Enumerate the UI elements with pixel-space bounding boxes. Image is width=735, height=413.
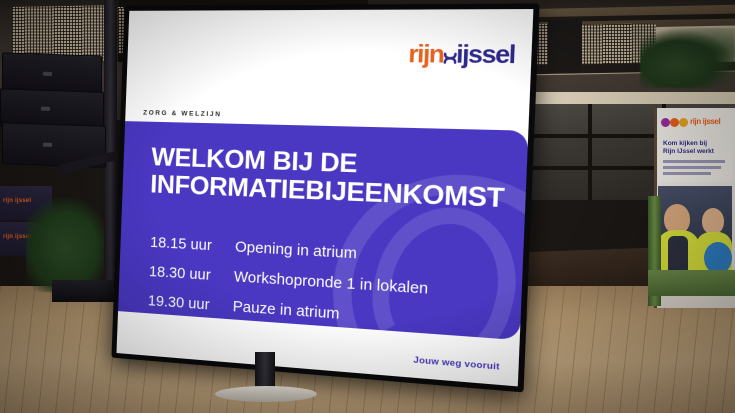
slide-tagline: Jouw weg vooruit (413, 354, 500, 372)
schedule-time: 18.30 uur (149, 264, 235, 286)
stall-headline-line-2: Rijn IJssel werkt (663, 148, 714, 156)
balcony-plants (640, 28, 735, 88)
stall-green-table (648, 270, 735, 296)
slide-purple-panel: WELKOM BIJ DE INFORMATIEBIJEENKOMST 18.1… (118, 121, 528, 340)
schedule-list: 18.15 uur Opening in atrium 18.30 uur Wo… (146, 235, 500, 340)
stall-banner: Kom kijken bij Rijn IJssel werkt (658, 136, 732, 182)
stall-headline-line-1: Kom kijken bij (663, 140, 714, 148)
slide-title: WELKOM BIJ DE INFORMATIEBIJEENKOMST (150, 144, 497, 213)
schedule-description: Pauze in atrium (232, 299, 339, 323)
rijn-ijssel-logo: rijn ijssel (408, 42, 515, 68)
stall-logo-text: rijn ijssel (690, 117, 720, 126)
schedule-time: 19.30 uur (148, 293, 233, 315)
schedule-row: 19.30 uur Pauze in atrium (148, 293, 497, 334)
logo-text-ijssel: ijssel (456, 40, 516, 69)
stall-logo-text-a: rijn ijssel (690, 117, 720, 126)
stall-body-line-1 (663, 160, 725, 163)
schedule-description: Workshopronde 2 in lokalen (231, 329, 426, 341)
speaker-badge-icon (43, 72, 52, 76)
tv-screen[interactable]: rijn ijssel ZORG & WELZIJN WELKOM BIJ DE… (116, 9, 533, 386)
logo-text-rijn: rijn (408, 40, 444, 68)
stall-body-line-2 (663, 166, 721, 169)
presentation-slide: rijn ijssel ZORG & WELZIJN WELKOM BIJ DE… (116, 9, 533, 386)
left-plant (26, 196, 112, 292)
photo-scene: rijn ijssel rijn ijssel rijn ijssel (0, 0, 735, 413)
schedule-time: 20.00 uur (147, 322, 232, 340)
logo-swirl-icon (443, 44, 456, 58)
slide-kicker-label: ZORG & WELZIJN (143, 109, 222, 118)
schedule-description: Workshopronde 1 in lokalen (234, 269, 429, 298)
schedule-description: Opening in atrium (235, 239, 357, 262)
tv-display[interactable]: rijn ijssel ZORG & WELZIJN WELKOM BIJ DE… (111, 3, 539, 392)
upper-door (548, 20, 582, 73)
stall-body-line-3 (663, 172, 711, 175)
stall-dot-3-icon (679, 118, 688, 127)
stall-person-b-head (702, 208, 724, 234)
stall-dot-1-icon (661, 118, 670, 127)
speaker-badge-icon (43, 143, 52, 147)
tv-stand-foot (215, 386, 317, 402)
stall-logo-dots (661, 118, 687, 127)
speaker-badge-icon (41, 107, 50, 111)
mullion-v2 (588, 104, 592, 200)
stall-dot-2-icon (670, 118, 679, 127)
schedule-time: 18.15 uur (150, 235, 236, 256)
